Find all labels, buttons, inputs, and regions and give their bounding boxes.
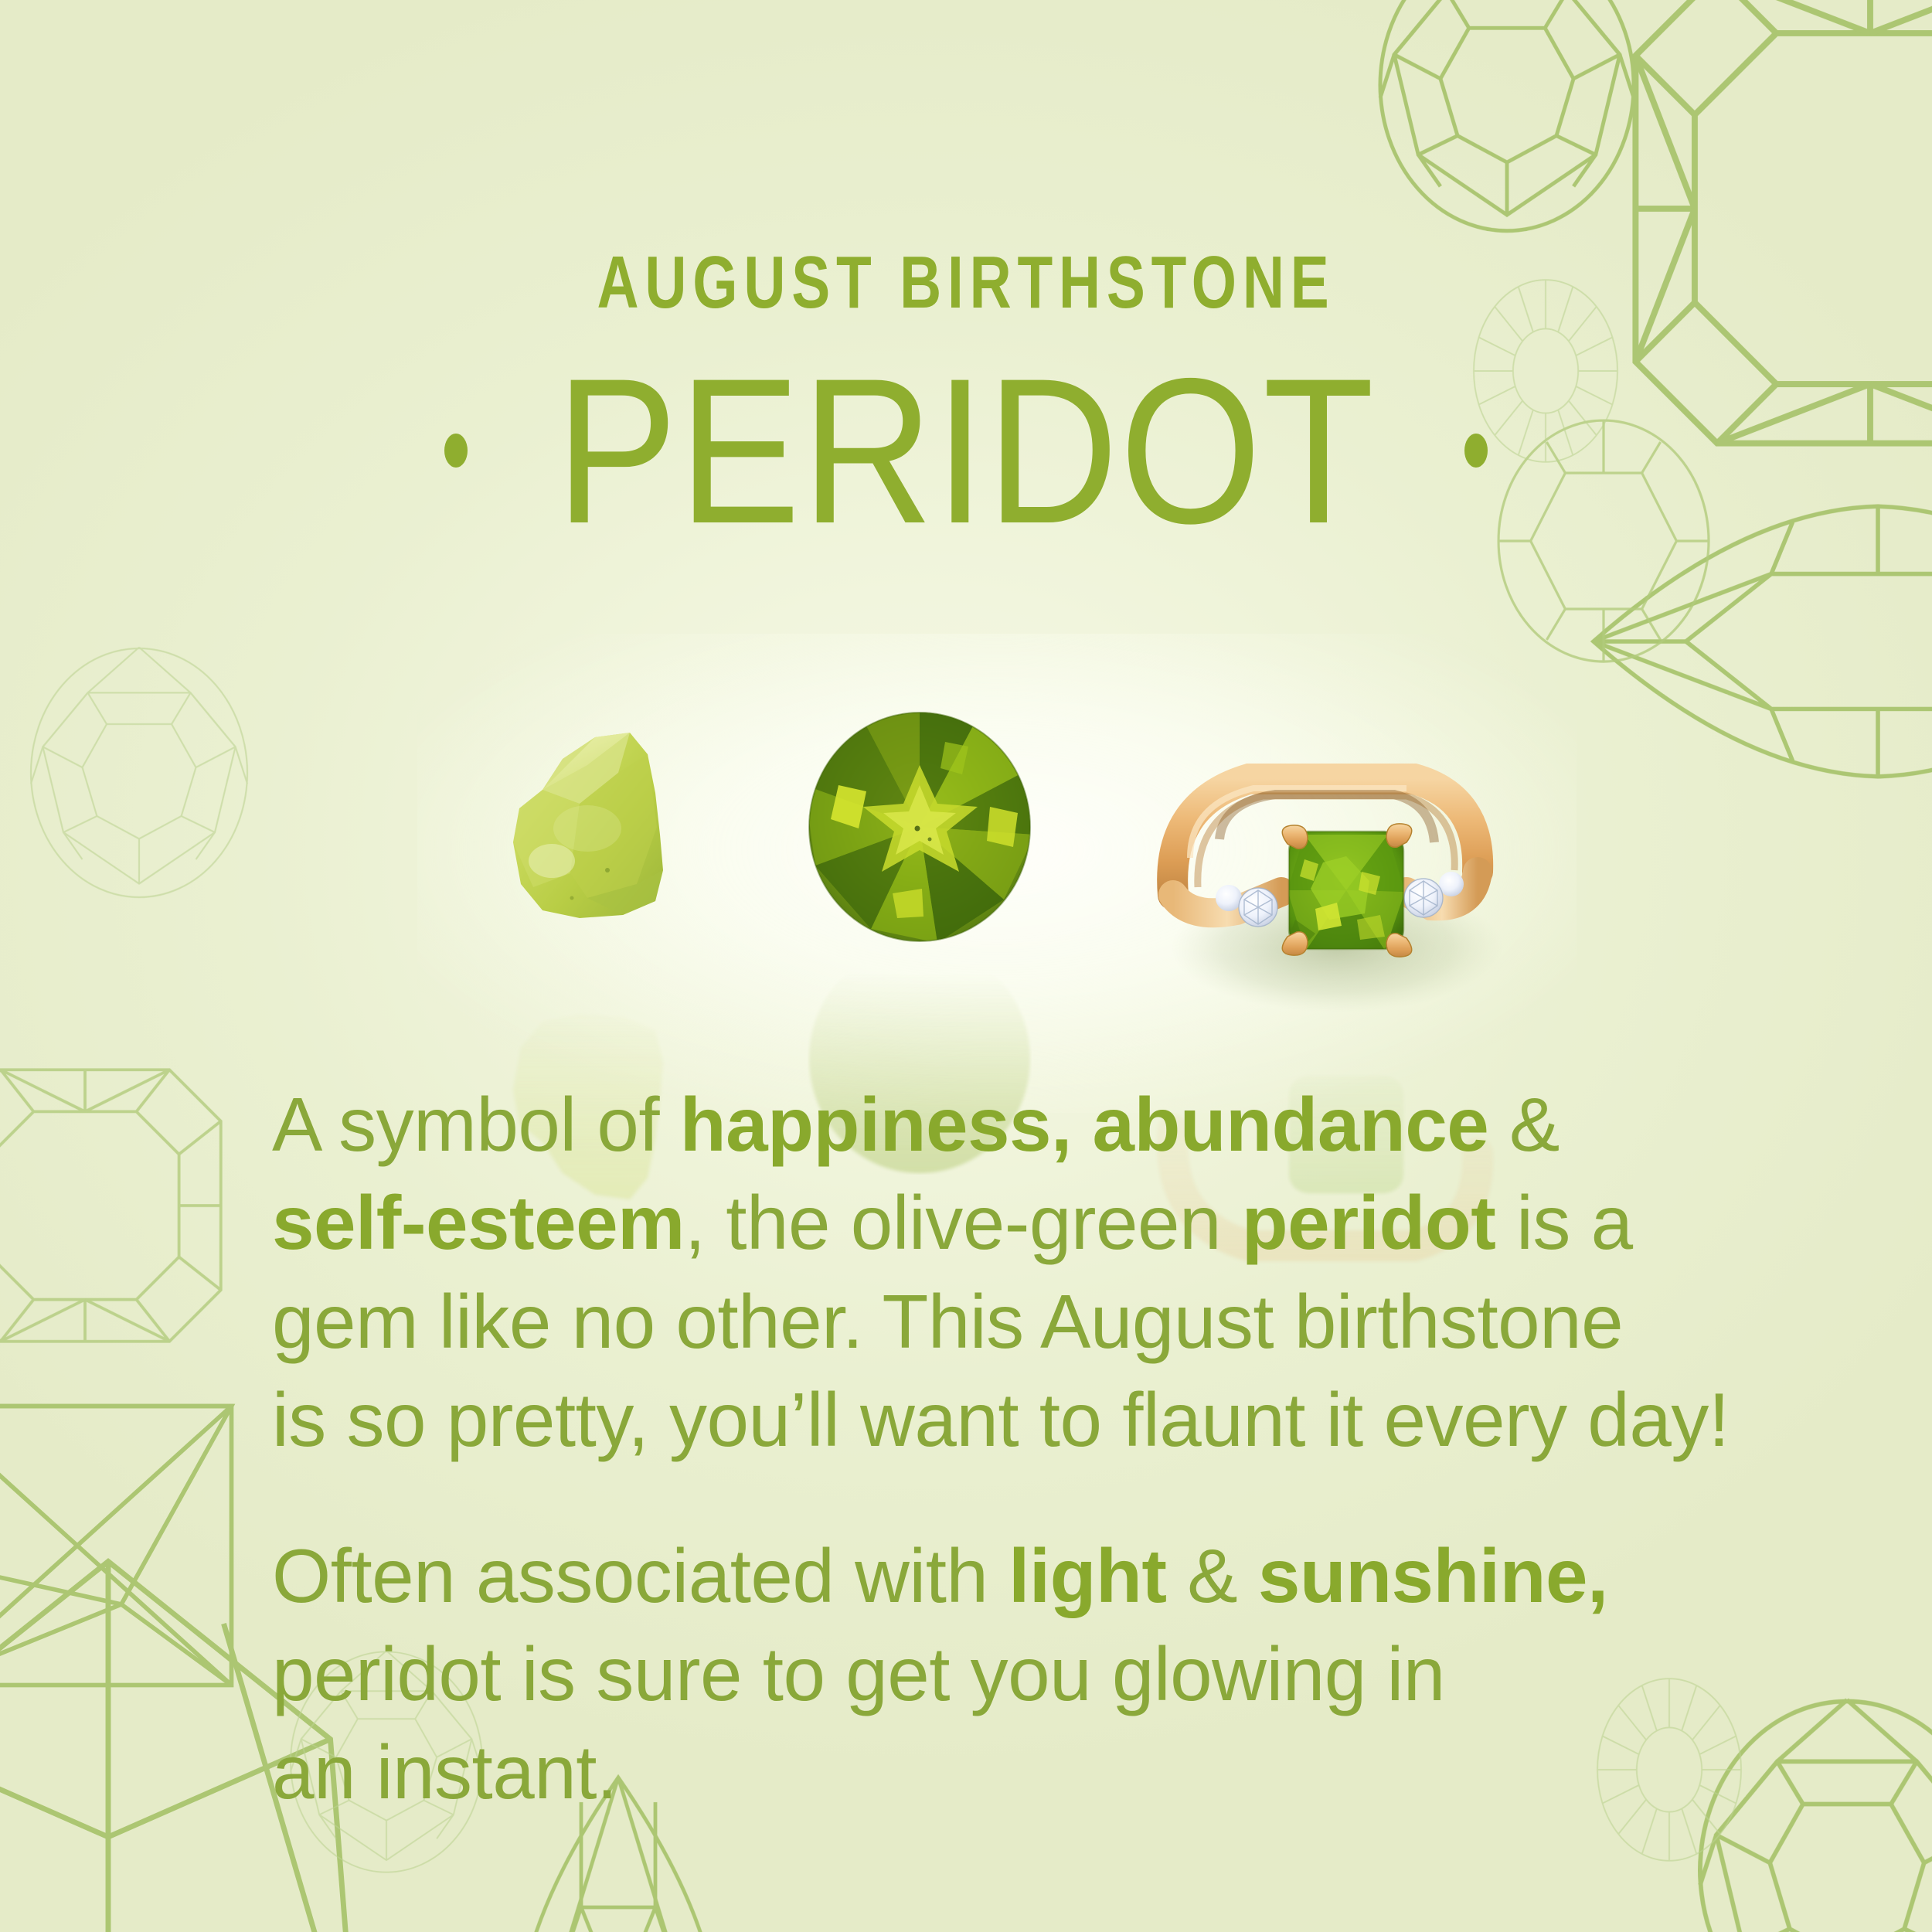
title-row: PERIDOT (0, 352, 1932, 549)
round-cut-peridot (808, 711, 1032, 943)
body-text: is so pretty, you’ll want to flaunt it e… (272, 1377, 1730, 1462)
eyebrow-label: AUGUST BIRTHSTONE (213, 246, 1719, 320)
body-text: is a (1495, 1180, 1632, 1265)
body-text: & (1167, 1533, 1258, 1618)
deco-square-step-left (0, 1406, 231, 1685)
emphasis-text: happiness, abundance (680, 1082, 1488, 1167)
emphasis-text: peridot (1242, 1180, 1496, 1265)
copy-line: peridot is sure to get you glowing in (272, 1625, 1740, 1723)
copy-line: self-esteem, the olive-green peridot is … (272, 1174, 1740, 1272)
paragraph-1: A symbol of happiness, abundance &self-e… (272, 1076, 1740, 1470)
body-text: gem like no other. This August birthston… (272, 1279, 1623, 1364)
poster-header: AUGUST BIRTHSTONE PERIDOT (0, 0, 1932, 549)
emphasis-text: sunshine, (1258, 1533, 1608, 1618)
copy-line: A symbol of happiness, abundance & (272, 1076, 1740, 1174)
body-text: & (1488, 1082, 1560, 1167)
body-text: , the olive-green (685, 1180, 1242, 1265)
body-copy: A symbol of happiness, abundance &self-e… (272, 1076, 1740, 1822)
rough-peridot-crystal (471, 719, 750, 966)
left-dot-icon (444, 434, 468, 468)
copy-line: Often associated with light & sunshine, (272, 1527, 1740, 1625)
body-text: Often associated with (272, 1533, 1009, 1618)
page-title: PERIDOT (556, 352, 1376, 549)
body-text: A symbol of (272, 1082, 680, 1167)
body-text: peridot is sure to get you glowing in (272, 1631, 1445, 1716)
copy-line: gem like no other. This August birthston… (272, 1273, 1740, 1371)
body-text: an instant. (272, 1730, 617, 1815)
peridot-birthstone-poster: AUGUST BIRTHSTONE PERIDOT (0, 0, 1932, 1932)
copy-line: an instant. (272, 1723, 1740, 1821)
right-dot-icon (1464, 434, 1488, 468)
peridot-gold-ring (1082, 688, 1546, 1012)
emphasis-text: self-esteem (272, 1180, 685, 1265)
paragraph-2: Often associated with light & sunshine,p… (272, 1527, 1740, 1822)
emphasis-text: light (1009, 1533, 1166, 1618)
copy-line: is so pretty, you’ll want to flaunt it e… (272, 1371, 1740, 1469)
gemstone-row (0, 703, 1932, 1136)
